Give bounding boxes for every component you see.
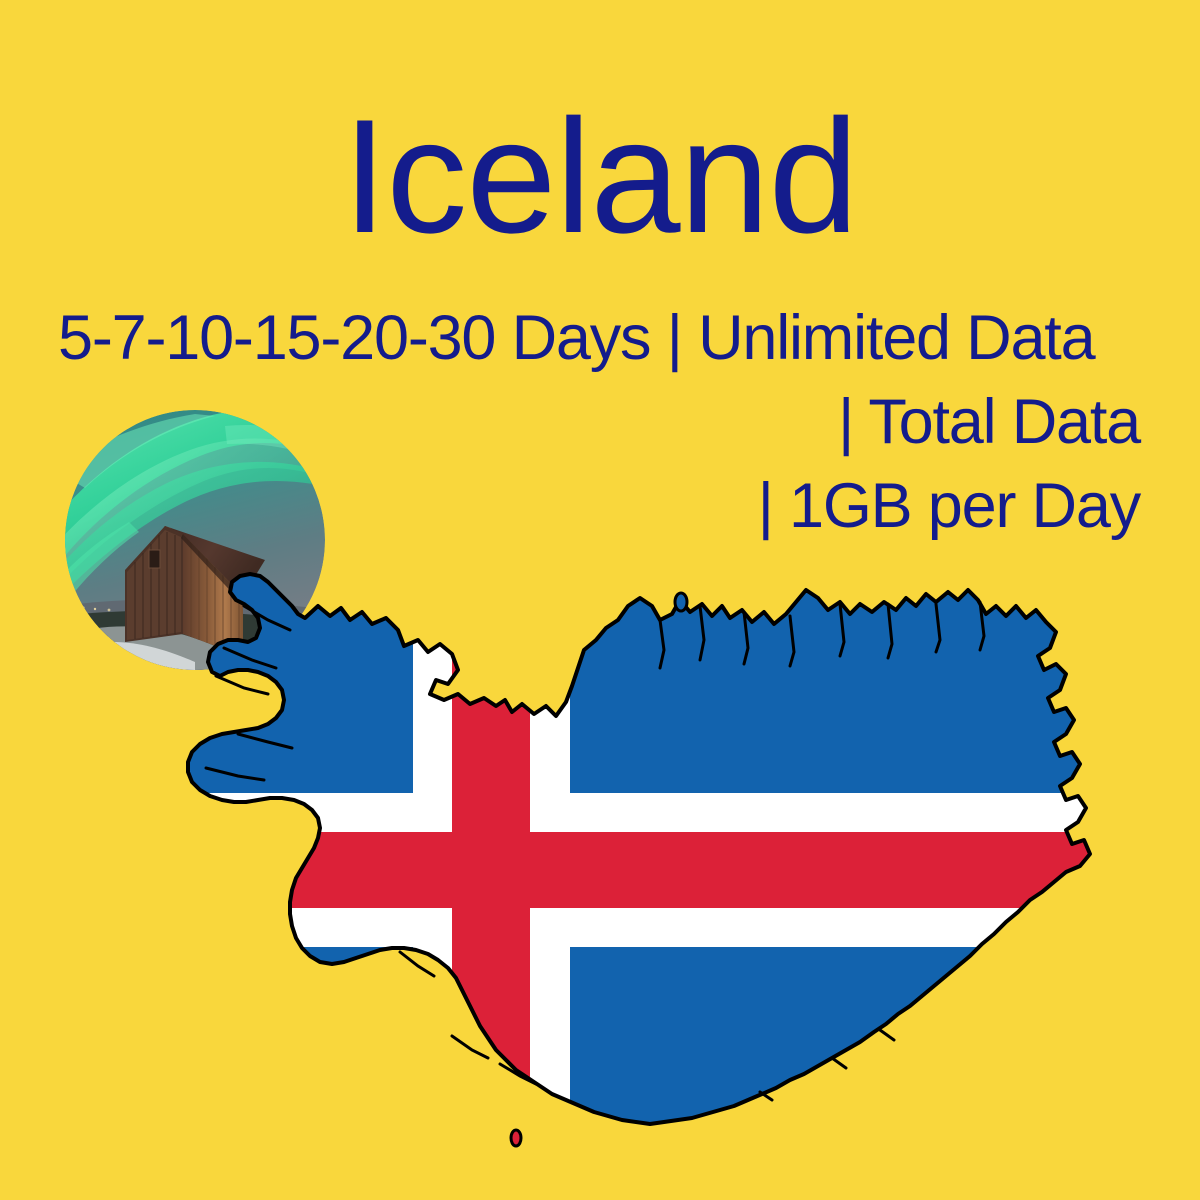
page-title: Iceland <box>0 96 1200 258</box>
flag-red-horizontal-band <box>150 832 1110 908</box>
iceland-coastline-outline <box>188 574 1090 1124</box>
southeast-detail-lines <box>760 1030 894 1100</box>
flag-fill <box>150 560 1110 1160</box>
aurora-photo-graphic <box>65 410 325 670</box>
flag-blue-field <box>150 560 1110 1160</box>
westman-islet <box>511 1130 521 1146</box>
flag-white-horizontal-band <box>150 793 1110 947</box>
flag-white-vertical-band <box>413 560 570 1160</box>
flag-red-vertical-band <box>452 560 530 1160</box>
grimsey-island <box>675 593 687 611</box>
product-card: Iceland 5-7-10-15-20-30 Days | Unlimited… <box>0 0 1200 1200</box>
fjord-detail-lines <box>660 602 984 668</box>
reykjanes-detail-lines <box>400 952 536 1084</box>
aurora-photo <box>65 410 325 670</box>
plan-line-durations-unlimited: 5-7-10-15-20-30 Days | Unlimited Data <box>58 296 1140 380</box>
